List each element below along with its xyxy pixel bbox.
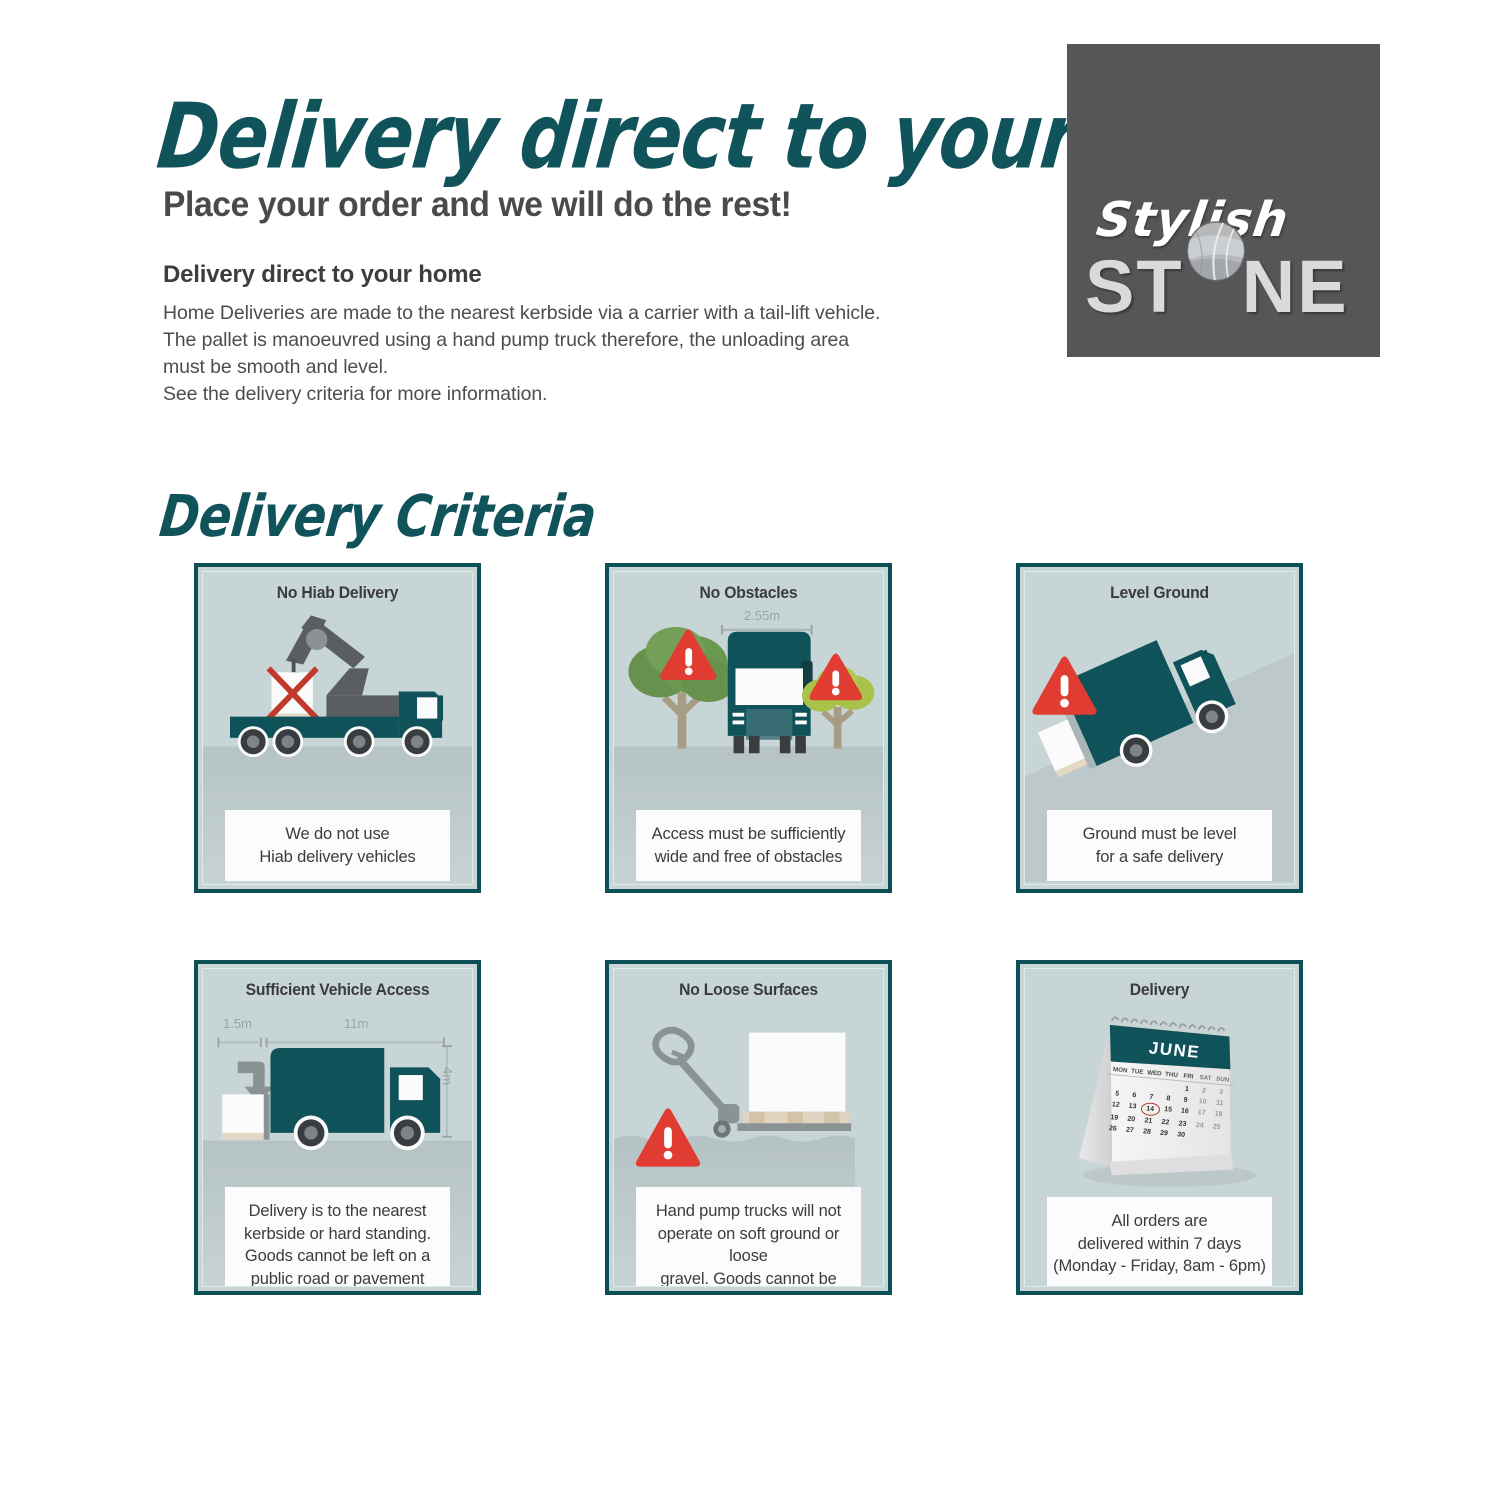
calendar-weekday: MON <box>1111 1066 1129 1075</box>
calendar-weekday: SAT <box>1197 1074 1215 1083</box>
card-caption: Hand pump trucks will not operate on sof… <box>636 1187 861 1287</box>
criteria-card-no-loose-surfaces[interactable]: No Loose Surfaces <box>605 960 892 1295</box>
criteria-card-delivery[interactable]: Delivery <box>1016 960 1303 1295</box>
caption-line: delivered within 7 days <box>1053 1233 1266 1256</box>
delivery-criteria-grid: No Hiab Delivery <box>0 0 1500 1500</box>
dimension-label-offload: 1.5m <box>223 1016 252 1031</box>
caption-line: Ground must be level <box>1053 823 1266 846</box>
card-caption: All orders are delivered within 7 days (… <box>1047 1197 1272 1287</box>
card-title: Sufficient Vehicle Access <box>210 981 466 1000</box>
caption-line: Hand pump trucks will not <box>642 1200 855 1223</box>
calendar-day[interactable] <box>1206 1132 1224 1144</box>
caption-line: Delivery is to the nearest <box>231 1200 444 1223</box>
calendar-day[interactable]: 29 <box>1155 1127 1173 1139</box>
card-inner: Level Ground <box>1024 571 1295 885</box>
caption-line: kerbside or hard standing. <box>231 1223 444 1246</box>
caption-line: We do not use <box>231 823 444 846</box>
calendar-weekday: FRI <box>1179 1072 1197 1081</box>
calendar-day[interactable]: 30 <box>1172 1129 1190 1141</box>
calendar-weekday: TUE <box>1128 1068 1146 1077</box>
caption-line: gravel. Goods cannot be pushed <box>642 1268 855 1288</box>
card-title: Level Ground <box>1032 584 1288 603</box>
calendar-day[interactable]: 27 <box>1121 1124 1139 1136</box>
criteria-card-sufficient-vehicle-access[interactable]: Sufficient Vehicle Access <box>194 960 481 1295</box>
card-title: No Hiab Delivery <box>210 584 466 603</box>
card-inner: No Loose Surfaces <box>613 968 884 1287</box>
calendar-day[interactable]: 7 <box>1142 1091 1160 1103</box>
criteria-card-level-ground[interactable]: Level Ground <box>1016 563 1303 893</box>
card-caption: Access must be sufficiently wide and fre… <box>636 810 861 881</box>
card-caption: We do not use Hiab delivery vehicles <box>225 810 450 881</box>
caption-line: Hiab delivery vehicles <box>231 846 444 869</box>
card-inner: Sufficient Vehicle Access <box>202 968 473 1287</box>
card-inner: No Hiab Delivery <box>202 571 473 885</box>
card-title: No Obstacles <box>621 584 877 603</box>
calendar-widget: JUNE MON TUE WED THU FRI SAT SUN 1235678… <box>1094 1027 1240 1188</box>
dimension-label-height: 4m <box>440 1067 455 1085</box>
card-inner: Delivery <box>1024 968 1295 1287</box>
caption-line: wide and free of obstacles <box>642 846 855 869</box>
calendar-weekday: SUN <box>1214 1075 1232 1084</box>
dimension-label-length: 11m <box>344 1016 368 1031</box>
caption-line: for a safe delivery <box>1053 846 1266 869</box>
card-title: Delivery <box>1032 981 1288 1000</box>
card-inner: No Obstacles <box>613 571 884 885</box>
calendar-weekday: WED <box>1145 1069 1163 1078</box>
caption-line: Goods cannot be left on a <box>231 1245 444 1268</box>
card-title: No Loose Surfaces <box>621 981 877 1000</box>
caption-line: public road or pavement <box>231 1268 444 1288</box>
calendar-day[interactable]: 28 <box>1138 1126 1156 1138</box>
calendar-day[interactable] <box>1189 1130 1207 1142</box>
criteria-card-no-obstacles[interactable]: No Obstacles <box>605 563 892 893</box>
caption-line: Access must be sufficiently <box>642 823 855 846</box>
card-caption: Delivery is to the nearest kerbside or h… <box>225 1187 450 1287</box>
card-caption: Ground must be level for a safe delivery <box>1047 810 1272 881</box>
caption-line: operate on soft ground or loose <box>642 1223 855 1268</box>
dimension-label-width: 2.55m <box>744 608 780 623</box>
caption-line: (Monday - Friday, 8am - 6pm) <box>1053 1255 1266 1278</box>
caption-line: All orders are <box>1053 1210 1266 1233</box>
calendar-day-grid: 1235678910111213141516171819202122232425… <box>1099 1075 1234 1147</box>
calendar-weekday: THU <box>1162 1071 1180 1080</box>
calendar-day[interactable]: 26 <box>1104 1123 1122 1135</box>
criteria-card-no-hiab-delivery[interactable]: No Hiab Delivery <box>194 563 481 893</box>
